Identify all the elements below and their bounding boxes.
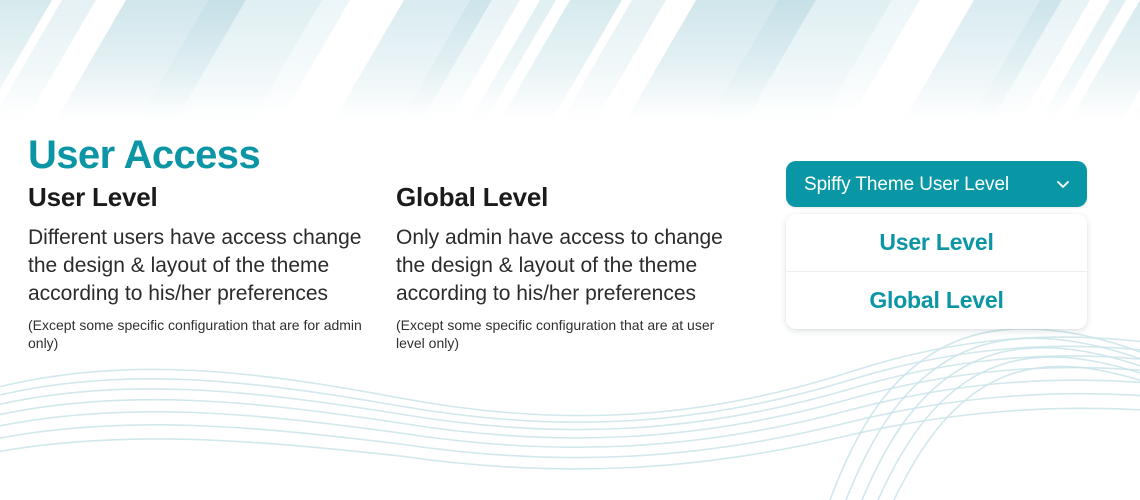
chevron-down-icon: [1053, 174, 1073, 194]
dropdown-option-global-level[interactable]: Global Level: [786, 271, 1087, 329]
dropdown-option-user-level[interactable]: User Level: [786, 214, 1087, 271]
column-note-global-level: (Except some specific configuration that…: [396, 316, 736, 352]
dropdown-selected-label: Spiffy Theme User Level: [804, 175, 1053, 194]
column-user-level: User Level Different users have access c…: [28, 183, 383, 352]
column-body-user-level: Different users have access change the d…: [28, 224, 383, 308]
column-note-user-level: (Except some specific configuration that…: [28, 316, 383, 352]
dropdown-toggle-button[interactable]: Spiffy Theme User Level: [786, 161, 1087, 207]
dropdown-option-list: User Level Global Level: [786, 214, 1087, 329]
column-global-level: Global Level Only admin have access to c…: [396, 183, 736, 352]
column-heading-user-level: User Level: [28, 183, 383, 213]
theme-level-dropdown: Spiffy Theme User Level User Level Globa…: [786, 161, 1087, 329]
column-body-global-level: Only admin have access to change the des…: [396, 224, 736, 308]
slide-canvas: User Access User Level Different users h…: [0, 0, 1140, 500]
column-heading-global-level: Global Level: [396, 183, 736, 213]
page-title: User Access: [28, 133, 260, 177]
